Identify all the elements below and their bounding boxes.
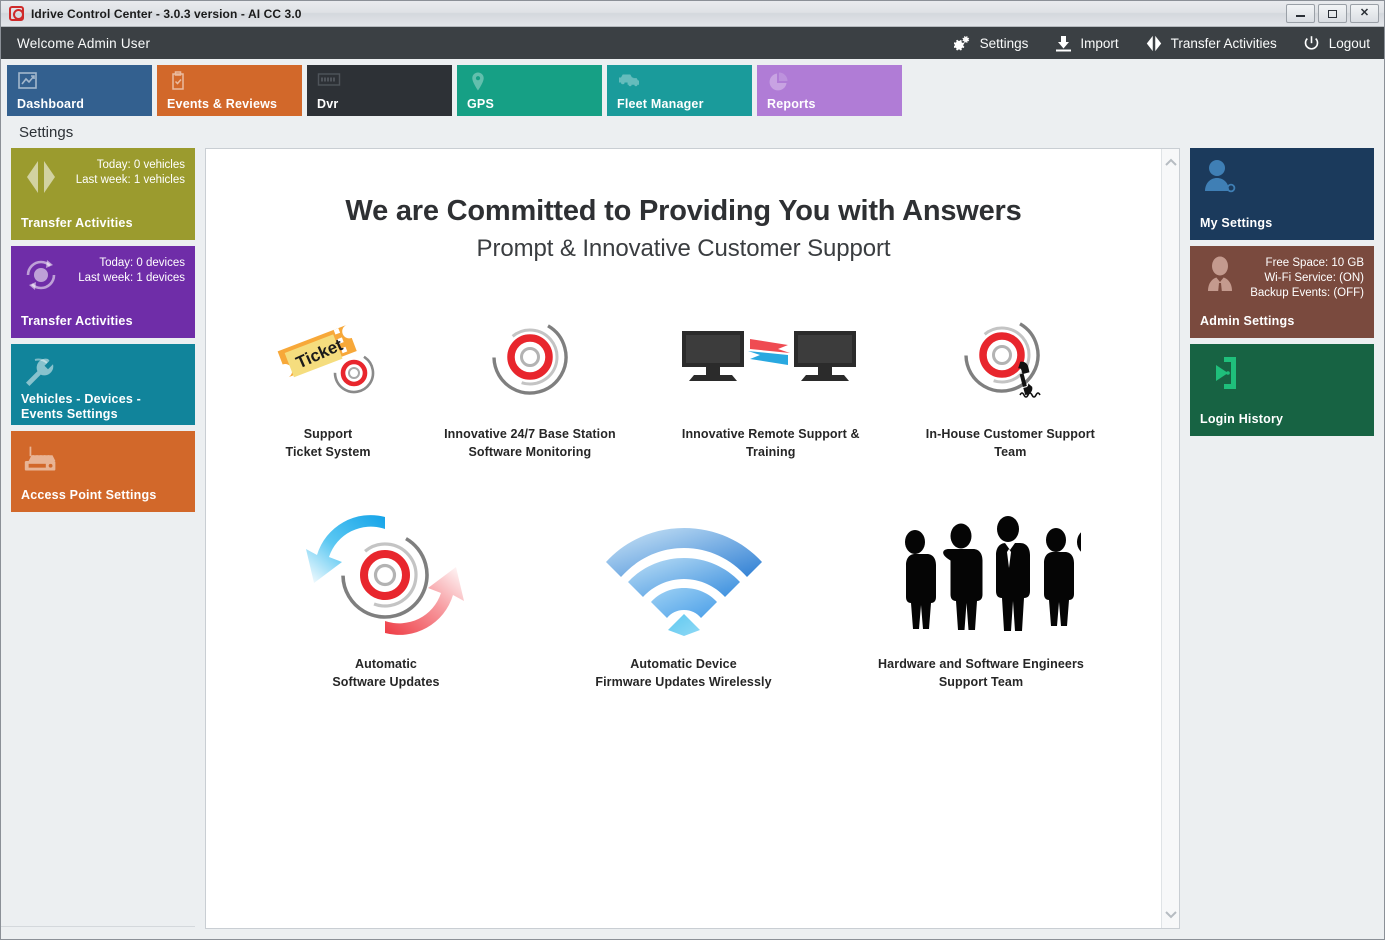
feature-caption-line: Automatic <box>332 655 439 673</box>
vehicles-icon <box>617 71 639 91</box>
topbar-logout-button[interactable]: Logout <box>1303 34 1370 52</box>
sidebar-item-login-history[interactable]: Login History <box>1190 344 1374 436</box>
download-icon <box>1054 34 1072 52</box>
tab-dvr-label: Dvr <box>317 97 338 111</box>
page-subtitle: Prompt & Innovative Customer Support <box>206 235 1161 263</box>
feature-caption-line: Software Monitoring <box>444 443 616 461</box>
tile-stat-line: Today: 0 vehicles <box>76 158 185 173</box>
application-window: Idrive Control Center - 3.0.3 version - … <box>0 0 1385 940</box>
main-scroll-area: We are Committed to Providing You with A… <box>206 149 1161 928</box>
topbar-settings-label: Settings <box>980 36 1029 51</box>
dvr-device-icon <box>317 71 339 91</box>
sidebar-item-transfer-activities-vehicles[interactable]: Today: 0 vehicles Last week: 1 vehicles … <box>11 148 195 240</box>
feature-caption-line: In-House Customer Support <box>926 425 1095 443</box>
sidebar-item-my-settings[interactable]: My Settings <box>1190 148 1374 240</box>
tab-fleet-manager[interactable]: Fleet Manager <box>607 65 752 116</box>
sidebar-item-label: My Settings <box>1200 206 1364 231</box>
transfer-arrows-icon <box>21 156 63 198</box>
window-title: Idrive Control Center - 3.0.3 version - … <box>31 7 302 21</box>
tile-stat-line: Backup Events: (OFF) <box>1250 286 1364 301</box>
tab-dvr[interactable]: Dvr <box>307 65 452 116</box>
tile-stats: Free Space: 10 GB Wi-Fi Service: (ON) Ba… <box>1250 254 1364 301</box>
sidebar-item-label: Transfer Activities <box>21 206 185 231</box>
tile-stat-line: Wi-Fi Service: (ON) <box>1250 271 1364 286</box>
body-row: Today: 0 vehicles Last week: 1 vehicles … <box>1 148 1384 939</box>
tile-stat-line: Last week: 1 vehicles <box>76 173 185 188</box>
maximize-button[interactable] <box>1318 4 1347 23</box>
scroll-up-icon[interactable] <box>1164 155 1178 169</box>
feature-caption-line: Firmware Updates Wirelessly <box>595 673 771 691</box>
tile-stats: Today: 0 devices Last week: 1 devices <box>78 254 185 286</box>
feature-device-firmware-updates: Automatic Device Firmware Updates Wirele… <box>530 511 837 691</box>
minimize-button[interactable] <box>1286 4 1315 23</box>
feature-caption-line: Support Team <box>878 673 1084 691</box>
feature-remote-support-training: Innovative Remote Support & Training <box>676 305 866 461</box>
user-profile-icon <box>1200 156 1242 198</box>
pie-chart-icon <box>767 71 789 91</box>
team-silhouettes-icon <box>881 511 1081 639</box>
tile-stat-line: Free Space: 10 GB <box>1250 256 1364 271</box>
breadcrumb-row: Settings <box>1 116 1384 148</box>
router-icon <box>21 439 63 481</box>
device-sync-icon <box>21 254 63 296</box>
topbar-import-button[interactable]: Import <box>1054 34 1118 52</box>
feature-caption: Automatic Software Updates <box>332 655 439 691</box>
topbar-transfer-label: Transfer Activities <box>1171 36 1277 51</box>
feature-caption-line: Training <box>682 443 860 461</box>
feature-caption: In-House Customer Support Team <box>926 425 1095 461</box>
feature-base-station-monitoring: Innovative 24/7 Base Station Software Mo… <box>444 305 616 461</box>
topbar-logout-label: Logout <box>1329 36 1370 51</box>
sidebar-item-admin-settings[interactable]: Free Space: 10 GB Wi-Fi Service: (ON) Ba… <box>1190 246 1374 338</box>
login-door-icon <box>1200 352 1242 394</box>
main-navigation-tabs: Dashboard Events & Reviews Dvr GPS Fleet <box>1 59 1384 116</box>
feature-support-ticket-system: Ticket Support Ticket S <box>272 305 384 461</box>
sidebar-item-label: Access Point Settings <box>21 478 185 503</box>
feature-caption-line: Innovative 24/7 Base Station <box>444 425 616 443</box>
sidebar-item-label: Vehicles - Devices - Events Settings <box>21 382 185 422</box>
close-icon: ✕ <box>1360 8 1369 19</box>
admin-user-icon <box>1200 254 1242 296</box>
tab-dashboard[interactable]: Dashboard <box>7 65 152 116</box>
tile-stat-line: Last week: 1 devices <box>78 271 185 286</box>
feature-caption: Support Ticket System <box>285 425 370 461</box>
feature-caption-line: Support <box>285 425 370 443</box>
right-sidebar: My Settings Free Space: 10 GB Wi-Fi Serv… <box>1190 148 1374 929</box>
idrive-logo-icon <box>9 6 24 21</box>
window-controls: ✕ <box>1286 4 1382 23</box>
scroll-down-icon[interactable] <box>1164 908 1178 922</box>
sidebar-item-label: Login History <box>1200 402 1364 427</box>
feature-caption-line: Team <box>926 443 1095 461</box>
feature-row-2: Automatic Software Updates <box>206 511 1161 691</box>
auto-update-target-icon <box>293 511 479 639</box>
sidebar-item-vehicles-devices-events-settings[interactable]: Vehicles - Devices - Events Settings <box>11 344 195 425</box>
tab-reports-label: Reports <box>767 97 816 111</box>
tab-dashboard-label: Dashboard <box>17 97 84 111</box>
title-bar: Idrive Control Center - 3.0.3 version - … <box>1 1 1384 27</box>
welcome-label: Welcome Admin User <box>17 36 150 51</box>
feature-hardware-software-engineers-team: Hardware and Software Engineers Support … <box>837 511 1125 691</box>
transfer-arrows-icon <box>1145 34 1163 52</box>
feature-in-house-customer-support-team: In-House Customer Support Team <box>926 305 1095 461</box>
tab-gps[interactable]: GPS <box>457 65 602 116</box>
tile-stat-line: Today: 0 devices <box>78 256 185 271</box>
sidebar-item-transfer-activities-devices[interactable]: Today: 0 devices Last week: 1 devices Tr… <box>11 246 195 338</box>
wifi-signal-icon <box>604 511 764 639</box>
remote-monitors-icon <box>676 305 866 409</box>
sidebar-item-label: Transfer Activities <box>21 304 185 329</box>
feature-caption: Hardware and Software Engineers Support … <box>878 655 1084 691</box>
feature-caption: Innovative Remote Support & Training <box>682 425 860 461</box>
breadcrumb: Settings <box>19 124 73 141</box>
topbar-transfer-activities-button[interactable]: Transfer Activities <box>1145 34 1277 52</box>
status-strip <box>1 926 195 939</box>
clipboard-check-icon <box>167 71 189 91</box>
tile-stats: Today: 0 vehicles Last week: 1 vehicles <box>76 156 185 188</box>
tab-gps-label: GPS <box>467 97 494 111</box>
feature-automatic-software-updates: Automatic Software Updates <box>242 511 530 691</box>
feature-caption-line: Software Updates <box>332 673 439 691</box>
tab-reports[interactable]: Reports <box>757 65 902 116</box>
map-pin-icon <box>467 71 489 91</box>
target-phone-icon <box>958 305 1062 409</box>
power-icon <box>1303 34 1321 52</box>
tab-fleet-manager-label: Fleet Manager <box>617 97 704 111</box>
feature-caption: Innovative 24/7 Base Station Software Mo… <box>444 425 616 461</box>
feature-caption: Automatic Device Firmware Updates Wirele… <box>595 655 771 691</box>
topbar-import-label: Import <box>1080 36 1118 51</box>
sidebar-item-label: Admin Settings <box>1200 304 1364 329</box>
page-title: We are Committed to Providing You with A… <box>206 195 1161 228</box>
sidebar-item-access-point-settings[interactable]: Access Point Settings <box>11 431 195 512</box>
topbar-actions: Settings Import <box>954 34 1370 52</box>
chart-trend-icon <box>17 71 39 91</box>
feature-caption-line: Innovative Remote Support & <box>682 425 860 443</box>
feature-row-1: Ticket Support Ticket S <box>206 305 1161 461</box>
close-button[interactable]: ✕ <box>1350 4 1379 23</box>
tab-events-reviews-label: Events & Reviews <box>167 97 277 111</box>
feature-caption-line: Hardware and Software Engineers <box>878 655 1084 673</box>
target-monitor-icon <box>488 305 572 409</box>
feature-caption-line: Ticket System <box>285 443 370 461</box>
support-ticket-icon: Ticket <box>272 305 384 409</box>
top-action-bar: Welcome Admin User Settings <box>1 27 1384 59</box>
main-vertical-scrollbar[interactable] <box>1161 149 1179 928</box>
gears-icon <box>954 34 972 52</box>
main-content-panel: We are Committed to Providing You with A… <box>205 148 1180 929</box>
left-sidebar: Today: 0 vehicles Last week: 1 vehicles … <box>11 148 195 929</box>
feature-caption-line: Automatic Device <box>595 655 771 673</box>
topbar-settings-button[interactable]: Settings <box>954 34 1029 52</box>
tab-events-reviews[interactable]: Events & Reviews <box>157 65 302 116</box>
